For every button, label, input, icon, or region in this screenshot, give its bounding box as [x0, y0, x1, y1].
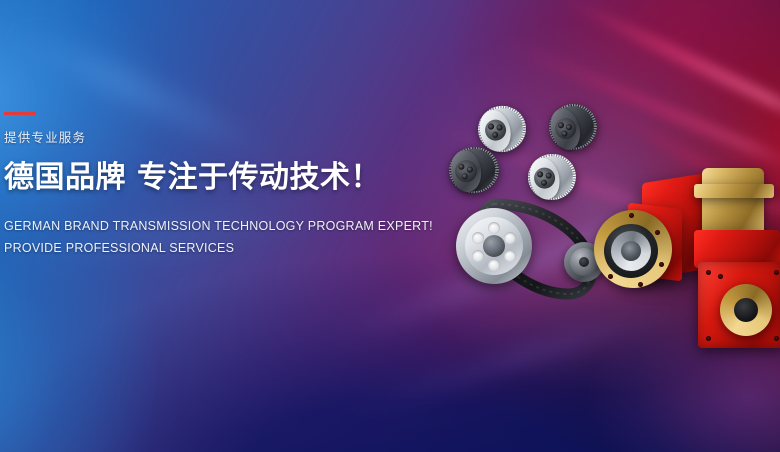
- gearbox-bolt: [718, 274, 723, 279]
- pulley-hub: [532, 166, 557, 191]
- pulley-face: [570, 248, 598, 276]
- pulley-rim: [446, 144, 502, 197]
- light-streak: [588, 96, 780, 227]
- timing-pulley-dark-top-right: [544, 98, 603, 155]
- light-streak: [498, 36, 780, 173]
- pulley-lightening-hole: [472, 232, 484, 244]
- pulley-bolt: [458, 163, 465, 170]
- pulley-bolt: [537, 171, 544, 178]
- pulley-bolt: [545, 172, 552, 179]
- gearbox-bolt: [655, 230, 660, 235]
- pulley-rim: [524, 150, 581, 205]
- pulley-bolt: [492, 131, 499, 138]
- right-angle-gearbox-left: [598, 178, 738, 318]
- gearbox-seal-ring: [604, 224, 658, 278]
- gearbox-output-flange: [720, 284, 772, 336]
- timing-pulley-silver-right: [524, 150, 581, 205]
- gearbox-output-face: [698, 262, 780, 348]
- pulley-hub: [483, 117, 508, 142]
- banner-subline-line-1: GERMAN BRAND TRANSMISSION TECHNOLOGY PRO…: [4, 215, 424, 237]
- light-streak: [558, 0, 780, 133]
- pulley-bolt: [496, 124, 503, 131]
- pulley-lightening-hole: [488, 222, 500, 234]
- banner-copy: 提供专业服务 德国品牌 专注于传动技术！ GERMAN BRAND TRANSM…: [4, 112, 424, 260]
- pulley-lightening-hole: [472, 250, 484, 262]
- gearbox-output-flange: [594, 210, 672, 288]
- pulley-hub: [454, 159, 479, 184]
- gearbox-barrel-collar: [694, 184, 774, 198]
- pulley-flange: [476, 107, 515, 155]
- pulley-flange: [546, 105, 584, 153]
- gearbox-bolt: [774, 270, 779, 275]
- pulley-bolt: [467, 166, 474, 173]
- pulley-bolt: [557, 122, 564, 129]
- gearbox-housing-neck: [628, 203, 682, 282]
- banner-headline: 德国品牌 专注于传动技术！: [4, 162, 424, 194]
- timing-pulley-dark-left: [446, 144, 502, 197]
- belt-large-pulley: [456, 208, 532, 284]
- pulley-bolt: [487, 123, 494, 130]
- pulley-rim: [473, 101, 531, 157]
- timing-belt: [452, 198, 622, 318]
- pulley-flange: [448, 148, 484, 194]
- gearbox-bolt: [706, 336, 711, 341]
- accent-rule: [4, 112, 36, 115]
- gearbox-bearing-ring: [611, 231, 651, 271]
- pulley-teeth: [544, 98, 603, 155]
- pulley-face: [465, 217, 523, 275]
- gearbox-output-bore: [734, 298, 758, 322]
- pulley-bore: [579, 257, 589, 267]
- gearbox-bolt: [608, 274, 613, 279]
- pulley-teeth: [524, 150, 581, 205]
- banner-subline-line-2: PROVIDE PROFESSIONAL SERVICES: [4, 237, 424, 259]
- pulley-hub: [483, 235, 505, 257]
- pulley-rim: [544, 98, 603, 155]
- belt-small-pulley: [564, 242, 604, 282]
- light-streak: [338, 287, 725, 419]
- gearbox-bolt: [638, 282, 643, 287]
- right-angle-gearbox-right: [690, 162, 780, 342]
- banner-eyebrow: 提供专业服务: [4, 132, 424, 145]
- pulley-bolt: [565, 123, 572, 130]
- pulley-flange: [526, 155, 563, 202]
- pulley-lightening-hole: [488, 259, 500, 271]
- pulley-teeth: [446, 144, 502, 197]
- pulley-hub: [553, 116, 579, 142]
- pulley-bolt: [540, 179, 547, 186]
- light-streak: [428, 118, 740, 247]
- gearbox-bolt: [629, 213, 634, 218]
- gearbox-housing: [694, 230, 780, 268]
- pulley-lightening-hole: [504, 250, 516, 262]
- pulley-teeth: [456, 208, 532, 284]
- timing-belt-drive-assembly: [452, 198, 622, 318]
- pulley-lightening-hole: [504, 232, 516, 244]
- gearbox-bolt: [774, 336, 779, 341]
- gearbox-output-bore: [621, 241, 641, 261]
- pulley-teeth: [473, 101, 531, 157]
- pulley-bolt: [461, 173, 468, 180]
- banner-subline: GERMAN BRAND TRANSMISSION TECHNOLOGY PRO…: [4, 215, 424, 260]
- promotional-banner: 提供专业服务 德国品牌 专注于传动技术！ GERMAN BRAND TRANSM…: [0, 0, 780, 452]
- gearbox-bolt: [659, 262, 664, 267]
- timing-pulley-silver-top-left: [473, 101, 531, 157]
- gearbox-bolt: [706, 270, 711, 275]
- gearbox-input-barrel: [702, 168, 764, 234]
- pulley-bolt: [561, 130, 568, 137]
- gearbox-housing: [642, 173, 708, 279]
